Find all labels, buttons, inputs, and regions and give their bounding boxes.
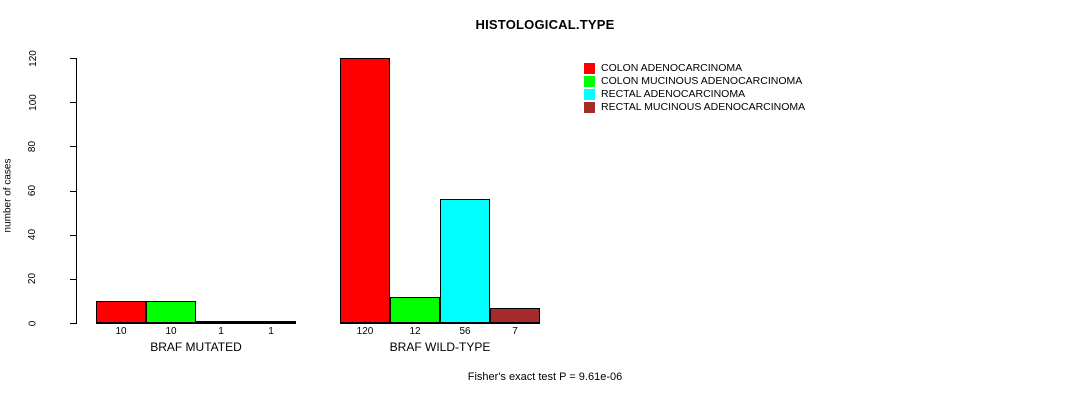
y-axis-title-text: number of cases [3,158,14,232]
y-tick-label-text: 100 [28,94,39,111]
bar[interactable] [340,58,390,323]
bar-value-label: 7 [490,326,540,337]
bar-chart: HISTOLOGICAL.TYPE 020406080100120 number… [0,0,1090,400]
bar-value-label: 12 [390,326,440,337]
group-baseline [96,323,296,324]
legend-item-label: COLON MUCINOUS ADENOCARCINOMA [601,75,802,88]
legend-item-label: RECTAL ADENOCARCINOMA [601,88,745,101]
y-tick-label-text: 0 [28,320,39,326]
legend-item[interactable]: COLON MUCINOUS ADENOCARCINOMA [584,75,805,88]
legend-swatch-icon [584,102,595,113]
bar[interactable] [246,321,296,323]
legend-item-label: RECTAL MUCINOUS ADENOCARCINOMA [601,101,805,114]
group-baseline [340,323,540,324]
y-tick-mark [70,323,77,324]
y-axis-title: number of cases [0,130,16,260]
y-tick-mark [70,191,77,192]
y-tick-label: 100 [0,96,66,108]
legend-item[interactable]: RECTAL ADENOCARCINOMA [584,88,805,101]
y-tick-label-text: 20 [28,273,39,284]
legend: COLON ADENOCARCINOMACOLON MUCINOUS ADENO… [584,62,805,114]
bar[interactable] [146,301,196,323]
legend-item[interactable]: COLON ADENOCARCINOMA [584,62,805,75]
y-tick-label: 120 [0,52,66,64]
bar-value-label: 56 [440,326,490,337]
statistical-annotation: Fisher's exact test P = 9.61e-06 [0,371,1090,383]
bar[interactable] [96,301,146,323]
bar[interactable] [440,199,490,323]
y-tick-mark [70,58,77,59]
y-tick-label-text: 80 [28,141,39,152]
y-tick-label-text: 40 [28,229,39,240]
bar-value-label: 1 [196,326,246,337]
bar-value-label: 1 [246,326,296,337]
y-tick-label-text: 60 [28,185,39,196]
legend-swatch-icon [584,63,595,74]
y-tick-mark [70,146,77,147]
legend-item[interactable]: RECTAL MUCINOUS ADENOCARCINOMA [584,101,805,114]
chart-title: HISTOLOGICAL.TYPE [0,17,1090,32]
y-tick-mark [70,102,77,103]
y-tick-mark [70,279,77,280]
bar[interactable] [390,297,440,324]
legend-swatch-icon [584,89,595,100]
y-tick-mark [70,235,77,236]
bar[interactable] [490,308,540,323]
bar[interactable] [196,321,246,323]
y-tick-label: 0 [0,317,66,329]
x-axis-group-label: BRAF WILD-TYPE [340,340,540,354]
y-tick-label: 20 [0,273,66,285]
legend-swatch-icon [584,76,595,87]
legend-item-label: COLON ADENOCARCINOMA [601,62,742,75]
y-tick-label-text: 120 [28,50,39,67]
bar-value-label: 10 [146,326,196,337]
bar-value-label: 120 [340,326,390,337]
bar-value-label: 10 [96,326,146,337]
x-axis-group-label: BRAF MUTATED [96,340,296,354]
